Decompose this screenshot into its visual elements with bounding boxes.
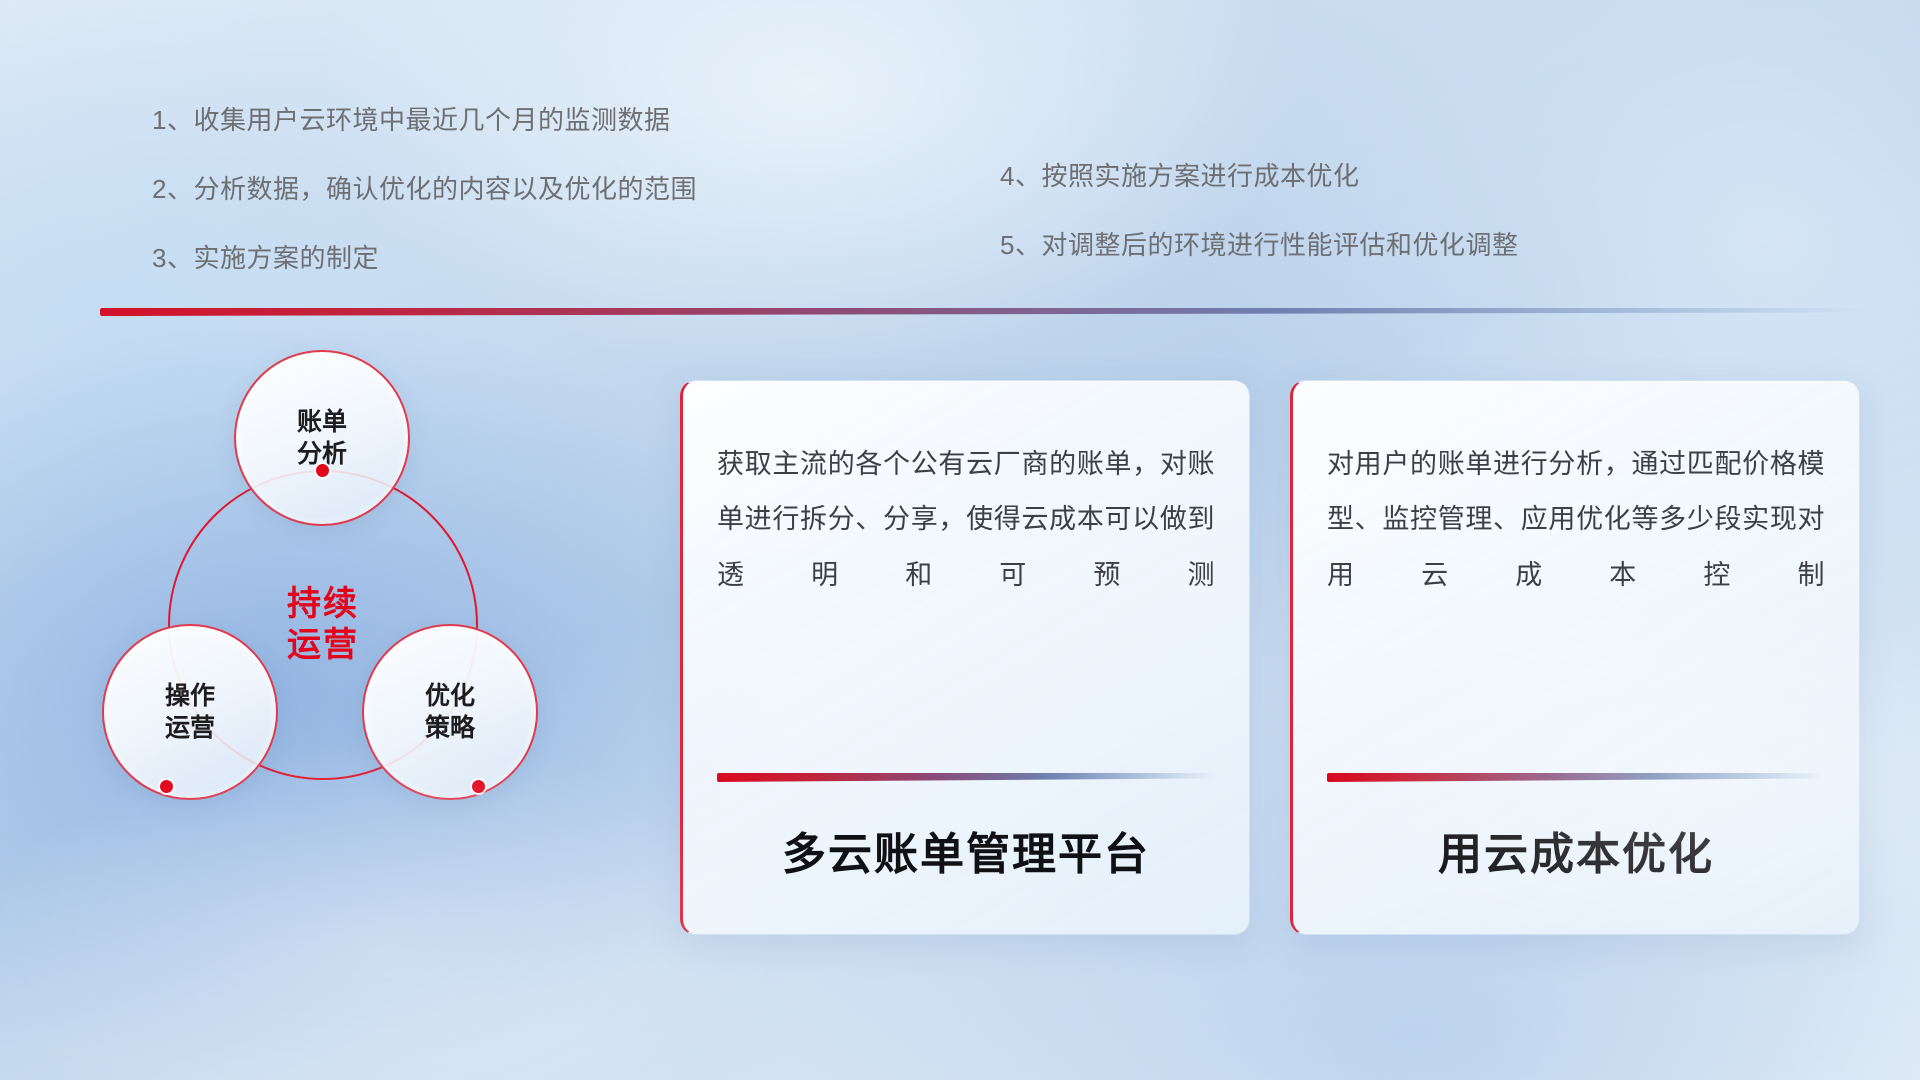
node-dot-icon xyxy=(316,464,329,477)
accent-divider xyxy=(100,308,1870,316)
circle-diagram: 持续 运营 账单 分析 操作 运营 优化 策略 xyxy=(100,350,620,950)
diagram-node-optimization-policy[interactable]: 优化 策略 xyxy=(362,624,538,800)
bullet-list-left: 1、收集用户云环境中最近几个月的监测数据 2、分析数据，确认优化的内容以及优化的… xyxy=(152,100,697,307)
node-label-line1: 优化 xyxy=(425,680,475,712)
bullet-list-right: 4、按照实施方案进行成本优化 5、对调整后的环境进行性能评估和优化调整 xyxy=(1000,156,1518,294)
node-dot-icon xyxy=(472,780,485,793)
card-accent-rule xyxy=(717,773,1215,782)
card-title: 多云账单管理平台 xyxy=(717,782,1215,934)
card-accent-rule xyxy=(1327,773,1825,782)
diagram-node-bill-analysis[interactable]: 账单 分析 xyxy=(234,350,410,526)
slide-canvas: 1、收集用户云环境中最近几个月的监测数据 2、分析数据，确认优化的内容以及优化的… xyxy=(0,0,1920,1080)
info-card[interactable]: 获取主流的各个公有云厂商的账单，对账单进行拆分、分享，使得云成本可以做到透明和可… xyxy=(680,380,1250,935)
diagram-node-operations[interactable]: 操作 运营 xyxy=(102,624,278,800)
center-label-line1: 持续 xyxy=(287,584,359,625)
node-dot-icon xyxy=(160,780,173,793)
node-label-line1: 操作 xyxy=(165,680,215,712)
node-label-line1: 账单 xyxy=(297,406,347,438)
card-body-text: 获取主流的各个公有云厂商的账单，对账单进行拆分、分享，使得云成本可以做到透明和可… xyxy=(717,437,1215,603)
center-label-line2: 运营 xyxy=(287,625,359,666)
card-title: 用云成本优化 xyxy=(1327,782,1825,934)
info-card[interactable]: 对用户的账单进行分析，通过匹配价格模型、监控管理、应用优化等多少段实现对用云成本… xyxy=(1290,380,1860,935)
bullet-item: 2、分析数据，确认优化的内容以及优化的范围 xyxy=(152,169,697,206)
node-label-line2: 策略 xyxy=(425,712,475,744)
node-label-line2: 运营 xyxy=(165,712,215,744)
bullet-item: 3、实施方案的制定 xyxy=(152,238,697,275)
bullet-item: 4、按照实施方案进行成本优化 xyxy=(1000,156,1518,193)
card-body-text: 对用户的账单进行分析，通过匹配价格模型、监控管理、应用优化等多少段实现对用云成本… xyxy=(1327,437,1825,603)
bullet-item: 1、收集用户云环境中最近几个月的监测数据 xyxy=(152,100,697,137)
bullet-item: 5、对调整后的环境进行性能评估和优化调整 xyxy=(1000,225,1518,262)
